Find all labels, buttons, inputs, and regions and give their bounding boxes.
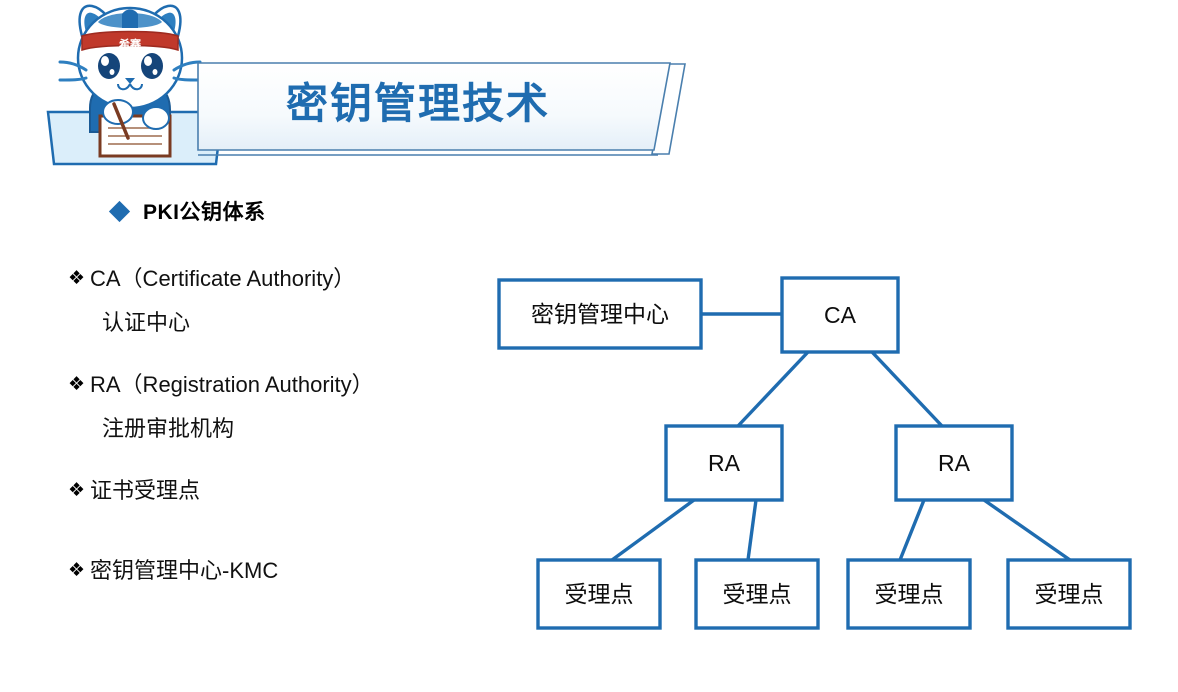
page-title: 密钥管理技术 — [286, 76, 686, 132]
diagram-edge-ra1-to-p2 — [748, 500, 756, 560]
flower-bullet-icon: ❖ — [68, 370, 90, 400]
list-item-label: RA（Registration Authority） — [90, 370, 374, 400]
diagram-nodes: 密钥管理中心CARARA受理点受理点受理点受理点 — [499, 278, 1130, 628]
list-item-sublabel: 认证中心 — [102, 308, 498, 338]
diagram-node-ca[interactable]: CA — [782, 278, 898, 352]
diagram-edge-ra2-to-p4 — [984, 500, 1070, 560]
pki-hierarchy-diagram: 密钥管理中心CARARA受理点受理点受理点受理点 — [490, 262, 1150, 642]
flower-bullet-icon: ❖ — [68, 556, 90, 586]
diagram-node-label: 受理点 — [1035, 581, 1104, 607]
diagram-node-label: 受理点 — [875, 581, 944, 607]
diagram-edge-ra1-to-p1 — [612, 500, 694, 560]
list-item: ❖ RA（Registration Authority） — [68, 370, 498, 400]
list-item-label: CA（Certificate Authority） — [90, 264, 355, 294]
left-content-column: PKI公钥体系 ❖ CA（Certificate Authority） 认证中心… — [68, 196, 498, 600]
diagram-edge-ra2-to-p3 — [900, 500, 924, 560]
diagram-node-label: CA — [824, 302, 857, 328]
title-banner: 密钥管理技术 — [196, 58, 686, 163]
diagram-node-label: 受理点 — [565, 581, 634, 607]
headband-text: 希赛 — [118, 37, 142, 51]
diagram-node-p1[interactable]: 受理点 — [538, 560, 660, 628]
diagram-node-ra1[interactable]: RA — [666, 426, 782, 500]
list-item-sublabel: 注册审批机构 — [102, 414, 498, 444]
diagram-node-kmc[interactable]: 密钥管理中心 — [499, 280, 701, 348]
list-item-label: 证书受理点 — [90, 476, 200, 506]
diagram-node-ra2[interactable]: RA — [896, 426, 1012, 500]
list-item-label: 密钥管理中心-KMC — [90, 556, 278, 586]
list-item: ❖ CA（Certificate Authority） — [68, 264, 498, 294]
flower-bullet-icon: ❖ — [68, 476, 90, 506]
section-heading-pki: PKI公钥体系 — [112, 196, 498, 226]
diagram-node-label: 密钥管理中心 — [531, 301, 669, 327]
diagram-node-p3[interactable]: 受理点 — [848, 560, 970, 628]
diagram-node-label: RA — [938, 450, 971, 476]
diagram-node-p2[interactable]: 受理点 — [696, 560, 818, 628]
diagram-edge-ca-to-ra1 — [738, 352, 808, 426]
diagram-edge-ca-to-ra2 — [872, 352, 942, 426]
list-item: ❖ 密钥管理中心-KMC — [68, 556, 498, 586]
flower-bullet-icon: ❖ — [68, 264, 90, 294]
diagram-node-label: 受理点 — [723, 581, 792, 607]
diagram-node-label: RA — [708, 450, 741, 476]
section-heading-label: PKI公钥体系 — [143, 196, 266, 226]
diagram-node-p4[interactable]: 受理点 — [1008, 560, 1130, 628]
diamond-bullet-icon — [109, 200, 130, 221]
slide-canvas: 希赛 — [0, 0, 1178, 692]
list-item: ❖ 证书受理点 — [68, 476, 498, 506]
